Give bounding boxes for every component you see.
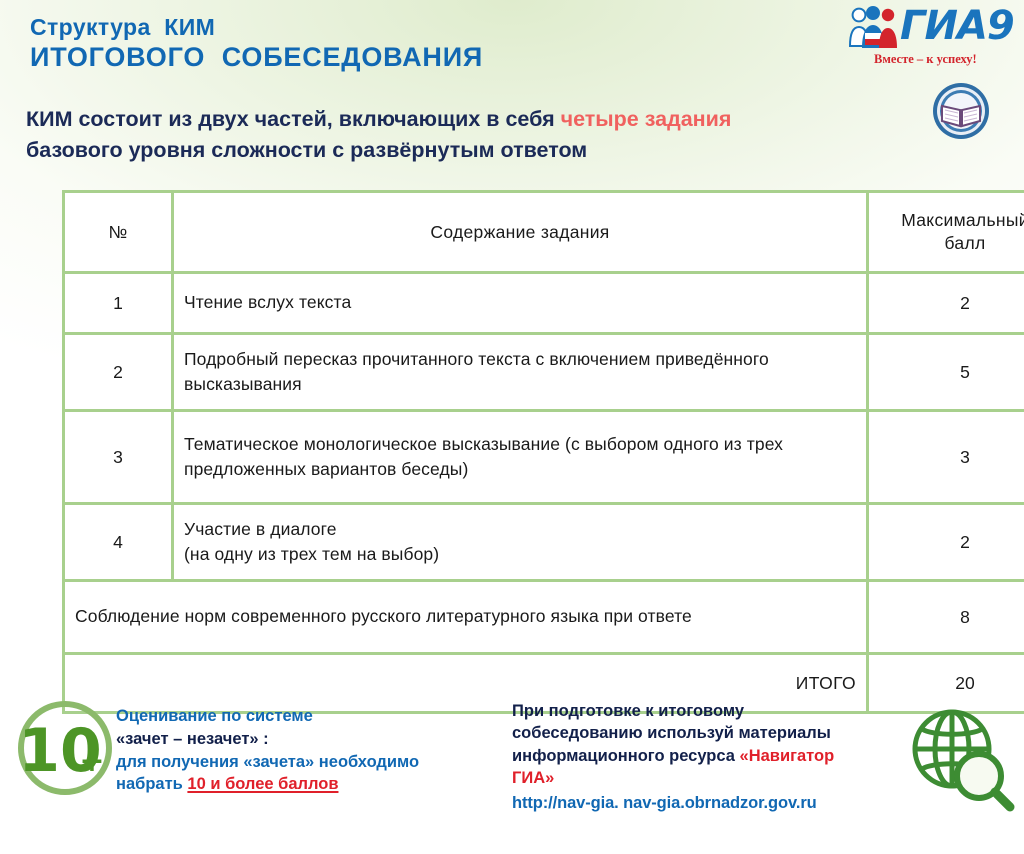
resource-note-line-3-prefix: информационного ресурса (512, 747, 740, 765)
resource-note-highlight-2: ГИА» (512, 769, 554, 787)
slide-root: Структура КИМ ИТОГОВОГО СОБЕСЕДОВАНИЯ КИ… (0, 0, 1024, 854)
row-score: 3 (868, 411, 1024, 504)
resource-note-line-1: При подготовке к итоговому (512, 702, 744, 720)
resource-url[interactable]: http://nav-gia. nav-gia.obrnadzor.gov.ru (512, 792, 922, 814)
row-description: Подробный пересказ прочитанного текста с… (173, 334, 868, 411)
row-num: 4 (64, 504, 173, 581)
row-score: 2 (868, 273, 1024, 334)
row-description: Участие в диалоге (на одну из трех тем н… (173, 504, 868, 581)
table-row: 1 Чтение вслух текста 2 (64, 273, 1024, 334)
grading-note: Оценивание по системе «зачет – незачет» … (116, 705, 516, 796)
merged-row-description: Соблюдение норм современного русского ли… (64, 581, 868, 654)
table-header-row: № Содержание задания Максимальный балл (64, 192, 1024, 273)
intro-text-part-2: базового уровня сложности с развёрнутым … (26, 138, 587, 162)
row-num: 2 (64, 334, 173, 411)
row-score: 5 (868, 334, 1024, 411)
table-row: 3 Тематическое монологическое высказыван… (64, 411, 1024, 504)
grading-note-line-3: для получения «зачета» необходимо (116, 753, 419, 771)
intro-text-part-1: КИМ состоит из двух частей, включающих в… (26, 107, 561, 131)
header-max-score-line-1: Максимальный (901, 210, 1024, 230)
header-description: Содержание задания (173, 192, 868, 273)
row-description: Тематическое монологическое высказывание… (173, 411, 868, 504)
table-row: 4 Участие в диалоге (на одну из трех тем… (64, 504, 1024, 581)
row-num: 1 (64, 273, 173, 334)
intro-paragraph: КИМ состоит из двух частей, включающих в… (26, 104, 826, 165)
row-num: 3 (64, 411, 173, 504)
gia9-people-icon (848, 6, 902, 50)
header-max-score: Максимальный балл (868, 192, 1024, 273)
intro-accent-four-tasks: четыре задания (561, 107, 732, 131)
header-num: № (64, 192, 173, 273)
ten-plus-badge-icon: 10 + (16, 699, 114, 797)
resource-note: При подготовке к итоговому собеседованию… (512, 700, 922, 814)
grading-note-line-2: «зачет – незачет» : (116, 730, 269, 748)
slide-title: Структура КИМ ИТОГОВОГО СОБЕСЕДОВАНИЯ (30, 14, 670, 74)
kim-structure-table-wrapper: № Содержание задания Максимальный балл 1… (62, 190, 992, 714)
grading-note-line-4-prefix: набрать (116, 775, 187, 793)
title-line-2: ИТОГОВОГО СОБЕСЕДОВАНИЯ (30, 42, 670, 74)
header-max-score-line-2: балл (945, 233, 986, 253)
resource-note-highlight-1: «Навигатор (740, 747, 835, 765)
table-row-merged: Соблюдение норм современного русского ли… (64, 581, 1024, 654)
gia9-wordmark: ГИА9 (900, 6, 1014, 46)
globe-search-icon (908, 705, 1016, 817)
row-description: Чтение вслух текста (173, 273, 868, 334)
row-description-line-2: (на одну из трех тем на выбор) (184, 544, 439, 564)
resource-note-line-2: собеседованию используй материалы (512, 724, 831, 742)
gia9-logo: ГИА9 Вместе – к успеху! (848, 4, 1020, 76)
grading-note-highlight: 10 и более баллов (187, 775, 338, 793)
row-description-line-1: Участие в диалоге (184, 519, 337, 539)
gia9-slogan: Вместе – к успеху! (874, 52, 977, 67)
grading-note-line-1: Оценивание по системе (116, 707, 313, 725)
kim-structure-table: № Содержание задания Максимальный балл 1… (62, 190, 1024, 714)
svg-text:+: + (79, 744, 104, 779)
merged-row-score: 8 (868, 581, 1024, 654)
row-score: 2 (868, 504, 1024, 581)
title-line-1: Структура КИМ (30, 14, 670, 41)
rosobrnadzor-book-emblem-icon (932, 82, 990, 140)
table-row: 2 Подробный пересказ прочитанного текста… (64, 334, 1024, 411)
